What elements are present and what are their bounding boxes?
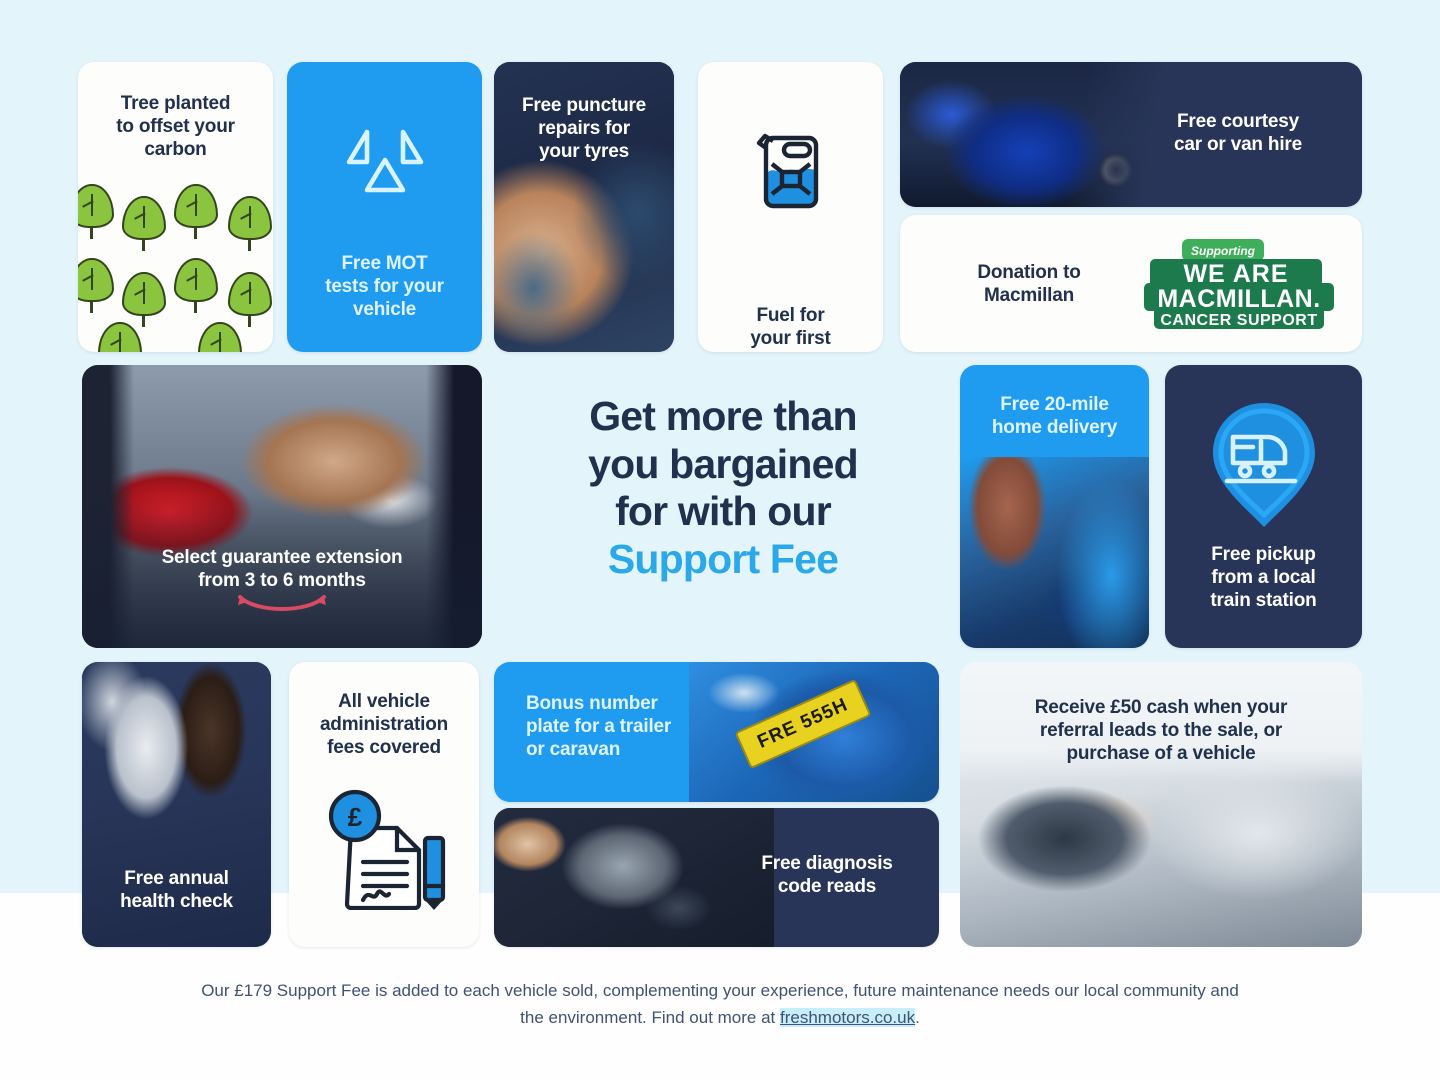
card-courtesy-car[interactable]: Free courtesycar or van hire xyxy=(900,62,1362,207)
train-map-pin-icon xyxy=(1203,397,1325,538)
svg-text:MACMILLAN.: MACMILLAN. xyxy=(1157,285,1320,313)
card-tree-caption: Tree plantedto offset yourcarbon xyxy=(88,92,263,162)
card-home-delivery[interactable]: Free 20-milehome delivery xyxy=(960,365,1149,648)
jerry-can-icon xyxy=(752,120,830,217)
diagnostics-photo xyxy=(494,808,774,947)
card-delivery-caption: Free 20-milehome delivery xyxy=(968,393,1141,439)
footer-disclaimer: Our £179 Support Fee is added to each ve… xyxy=(200,978,1240,1032)
footer-text-end: . xyxy=(915,1008,920,1027)
card-guarantee-extension[interactable]: Select guarantee extensionfrom 3 to 6 mo… xyxy=(82,365,482,648)
mot-triangles-icon xyxy=(337,120,433,205)
svg-text:Supporting: Supporting xyxy=(1191,244,1256,258)
freshmotors-link[interactable]: freshmotors.co.uk xyxy=(780,1008,915,1027)
card-macmillan-donation[interactable]: Donation toMacmillan Supporting WE ARE M… xyxy=(900,215,1362,352)
card-tree-planted[interactable]: Tree plantedto offset yourcarbon xyxy=(78,62,273,352)
card-plate-caption: Bonus numberplate for a traileror carava… xyxy=(526,692,736,762)
card-mot-caption: Free MOTtests for yourvehicle xyxy=(299,252,470,322)
svg-text:CANCER SUPPORT: CANCER SUPPORT xyxy=(1160,312,1317,329)
card-admin-caption: All vehicleadministrationfees covered xyxy=(299,690,469,760)
page-title: Get more than you bargained for with our… xyxy=(492,393,954,583)
card-referral-caption: Receive £50 cash when yourreferral leads… xyxy=(980,696,1342,766)
card-free-diagnosis[interactable]: Free diagnosiscode reads xyxy=(494,808,939,947)
card-guarantee-caption: Select guarantee extensionfrom 3 to 6 mo… xyxy=(96,546,468,592)
card-fuel-first-journey[interactable]: Fuel foryour firstjourrney xyxy=(698,62,883,352)
card-diagnosis-caption: Free diagnosiscode reads xyxy=(737,852,917,898)
card-puncture-caption: Free puncturerepairs foryour tyres xyxy=(500,94,668,164)
card-courtesy-caption: Free courtesycar or van hire xyxy=(1128,110,1348,156)
headline-block: Get more than you bargained for with our… xyxy=(492,365,954,648)
card-referral-cash[interactable]: Receive £50 cash when yourreferral leads… xyxy=(960,662,1362,947)
card-train-station-pickup[interactable]: Free pickupfrom a localtrain station xyxy=(1165,365,1362,648)
card-puncture-repairs[interactable]: Free puncturerepairs foryour tyres xyxy=(494,62,674,352)
card-health-caption: Free annualhealth check xyxy=(88,867,265,913)
card-admin-fees-covered[interactable]: All vehicleadministrationfees covered £ xyxy=(289,662,479,947)
number-plate-text: FRE 555H xyxy=(735,679,872,769)
svg-text:WE ARE: WE ARE xyxy=(1183,260,1288,288)
headline-line-3: for with our xyxy=(492,488,954,536)
card-macmillan-caption: Donation toMacmillan xyxy=(934,261,1124,307)
svg-text:£: £ xyxy=(348,802,363,832)
tree-icon xyxy=(78,182,273,352)
headline-line-1: Get more than xyxy=(492,393,954,441)
infographic-page: Tree plantedto offset yourcarbon xyxy=(0,0,1440,1080)
pound-invoice-pencil-icon: £ xyxy=(317,782,451,915)
footer-text: Our £179 Support Fee is added to each ve… xyxy=(201,981,1239,1027)
headline-line-2: you bargained xyxy=(492,441,954,489)
macmillan-logo: Supporting WE ARE MACMILLAN. CANCER SUPP… xyxy=(1142,237,1338,333)
headline-accent: Support Fee xyxy=(492,536,954,584)
card-train-caption: Free pickupfrom a localtrain station xyxy=(1175,543,1352,613)
card-fuel-caption: Fuel foryour firstjourrney xyxy=(708,304,873,352)
home-delivery-photo xyxy=(960,457,1149,648)
underline-swoosh-icon xyxy=(234,593,330,620)
card-free-mot[interactable]: Free MOTtests for yourvehicle xyxy=(287,62,482,352)
card-bonus-number-plate[interactable]: FRE 555H Bonus numberplate for a trailer… xyxy=(494,662,939,802)
card-annual-health-check[interactable]: Free annualhealth check xyxy=(82,662,271,947)
